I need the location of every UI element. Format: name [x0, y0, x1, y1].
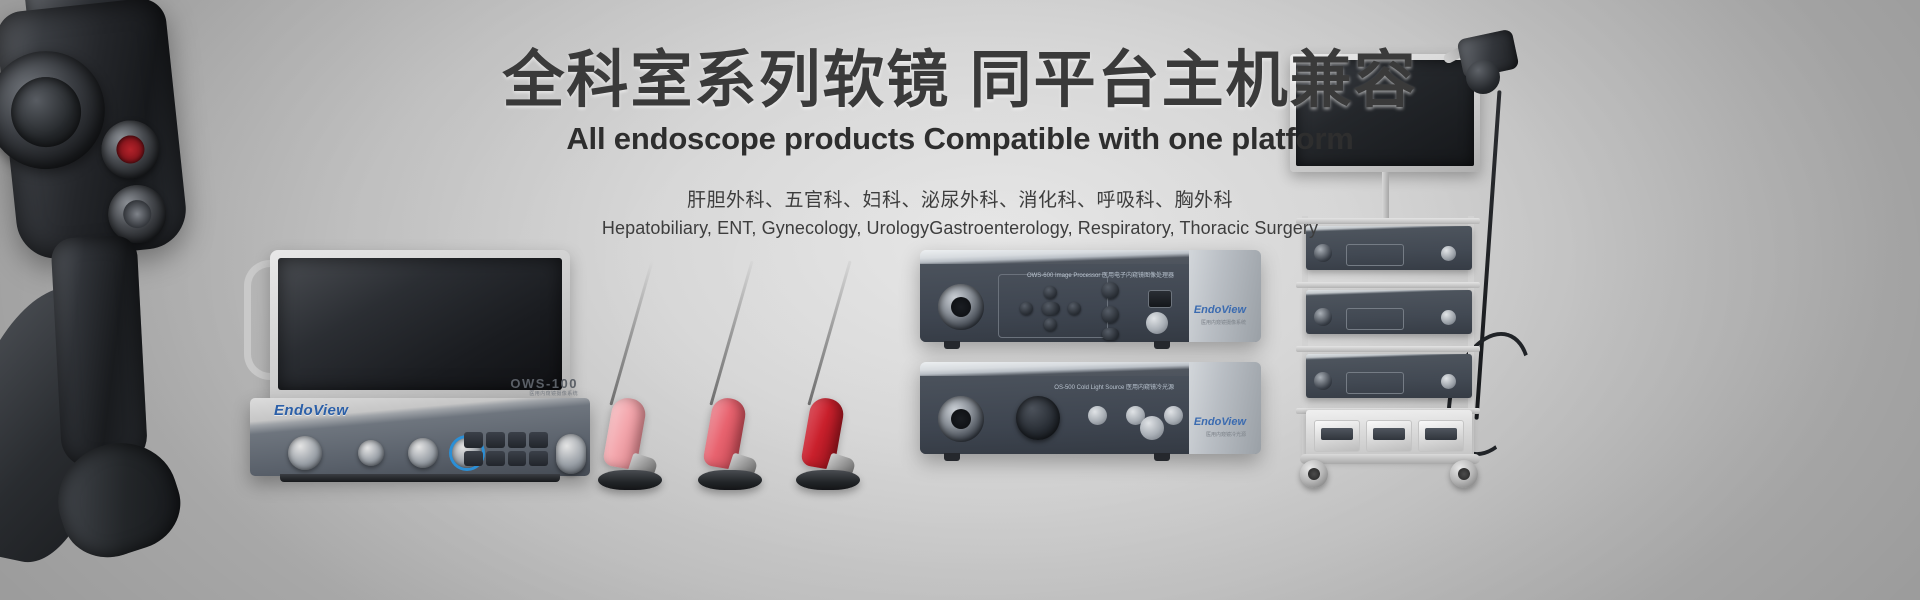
banner-headline: 全科室系列软镜 同平台主机兼容 — [0, 48, 1920, 113]
workstation-dial-left — [288, 436, 322, 470]
keypad-key — [508, 451, 527, 467]
cart-accessory-module-1 — [1314, 420, 1360, 452]
keypad-key — [508, 432, 527, 448]
processor-menu-button — [1042, 302, 1060, 315]
cart-shelf-lower — [1296, 346, 1480, 352]
cart-caster-left — [1300, 460, 1328, 488]
cart-unit-keypad — [1346, 244, 1404, 266]
product-banner: OWS-100 医用内窥镜摄像系统 EndoView — [0, 0, 1920, 600]
keypad-key — [464, 451, 483, 467]
processor-enter-button — [1102, 306, 1119, 323]
workstation-brand-label: EndoView — [274, 402, 348, 419]
workstation-dial-center — [358, 440, 384, 466]
light-source-foot — [944, 453, 960, 461]
cart-unit-dial — [1441, 374, 1456, 389]
cold-light-source-unit: OS-500 Cold Light Source 医用内窥镜冷光源 EndoVi… — [920, 362, 1260, 454]
light-source-mode-button-1 — [1088, 406, 1107, 425]
banner-subheadline: All endoscope products Compatible with o… — [0, 121, 1920, 157]
cart-unit-connector-port — [1314, 372, 1332, 390]
cart-caster-right — [1450, 460, 1478, 488]
cart-accessory-tray — [1306, 410, 1472, 460]
processor-white-balance-button — [1102, 282, 1119, 299]
processor-brand-sublabel: 医用内窥镜摄像系统 — [1201, 319, 1246, 326]
workstation-dial-right — [408, 438, 438, 468]
endoscopy-workstation-ows100: OWS-100 医用内窥镜摄像系统 EndoView — [240, 250, 600, 480]
cart-base-rail — [1300, 454, 1480, 464]
processor-nav-left-button — [1020, 302, 1033, 315]
cart-accessory-module-3 — [1418, 420, 1464, 452]
banner-departments-english: Hepatobiliary, ENT, Gynecology, UrologyG… — [0, 218, 1920, 239]
processor-nav-down-button — [1044, 318, 1057, 331]
keypad-key — [486, 432, 505, 448]
workstation-keypad — [464, 432, 548, 466]
workstation-model-sublabel: 医用内窥镜摄像系统 — [529, 390, 578, 397]
processor-foot — [944, 341, 960, 349]
light-source-mode-button-3 — [1164, 406, 1183, 425]
keypad-key — [529, 451, 548, 467]
light-source-brightness-dial — [1016, 396, 1060, 440]
workstation-base-foot — [280, 474, 560, 482]
processor-record-button — [1102, 328, 1119, 340]
processor-nav-up-button — [1044, 286, 1057, 299]
keypad-key — [464, 432, 483, 448]
cart-processor-unit-2 — [1306, 290, 1472, 334]
cart-unit-connector-port — [1314, 308, 1332, 326]
workstation-display-screen — [278, 258, 562, 390]
keypad-key — [486, 451, 505, 467]
processor-side-panel — [1189, 250, 1261, 342]
image-processor-unit: OWS-600 Image Processor 医用电子内窥镜图像处理器 End… — [920, 250, 1260, 342]
scope-shaft — [807, 260, 851, 405]
scope-stand-base — [796, 470, 860, 490]
cart-processor-unit-3 — [1306, 354, 1472, 398]
light-source-fiber-port — [938, 396, 984, 442]
light-source-power-button — [1140, 416, 1164, 440]
cart-shelf-middle — [1296, 282, 1480, 288]
cart-unit-keypad — [1346, 372, 1404, 394]
processor-scope-connector-port — [938, 284, 984, 330]
processor-foot — [1154, 341, 1170, 349]
cart-unit-dial — [1441, 246, 1456, 261]
light-source-side-panel — [1189, 362, 1261, 454]
workstation-power-button — [556, 434, 586, 474]
flexible-scope-red — [718, 258, 878, 488]
processor-power-button — [1146, 312, 1168, 334]
processor-model-label: OWS-600 Image Processor 医用电子内窥镜图像处理器 — [1027, 272, 1174, 281]
cart-unit-dial — [1441, 310, 1456, 325]
cart-unit-keypad — [1346, 308, 1404, 330]
processor-brand-label: EndoView — [1194, 304, 1246, 316]
light-source-brand-label: EndoView — [1194, 416, 1246, 428]
cart-accessory-module-2 — [1366, 420, 1412, 452]
light-source-brand-sublabel: 医用内窥镜冷光源 — [1206, 431, 1246, 438]
banner-departments-chinese: 肝胆外科、五官科、妇科、泌尿外科、消化科、呼吸科、胸外科 — [0, 185, 1920, 212]
banner-text-block: 全科室系列软镜 同平台主机兼容 All endoscope products C… — [0, 48, 1920, 239]
light-source-foot — [1154, 453, 1170, 461]
light-source-model-label: OS-500 Cold Light Source 医用内窥镜冷光源 — [1054, 384, 1174, 393]
endoscope-grip-handle — [50, 235, 148, 469]
workstation-model-label: OWS-100 — [510, 376, 578, 391]
keypad-key — [529, 432, 548, 448]
processor-nav-right-button — [1068, 302, 1081, 315]
processor-usb-port — [1148, 290, 1172, 308]
cart-unit-connector-port — [1314, 244, 1332, 262]
processor-stack: OWS-600 Image Processor 医用电子内窥镜图像处理器 End… — [920, 250, 1270, 475]
